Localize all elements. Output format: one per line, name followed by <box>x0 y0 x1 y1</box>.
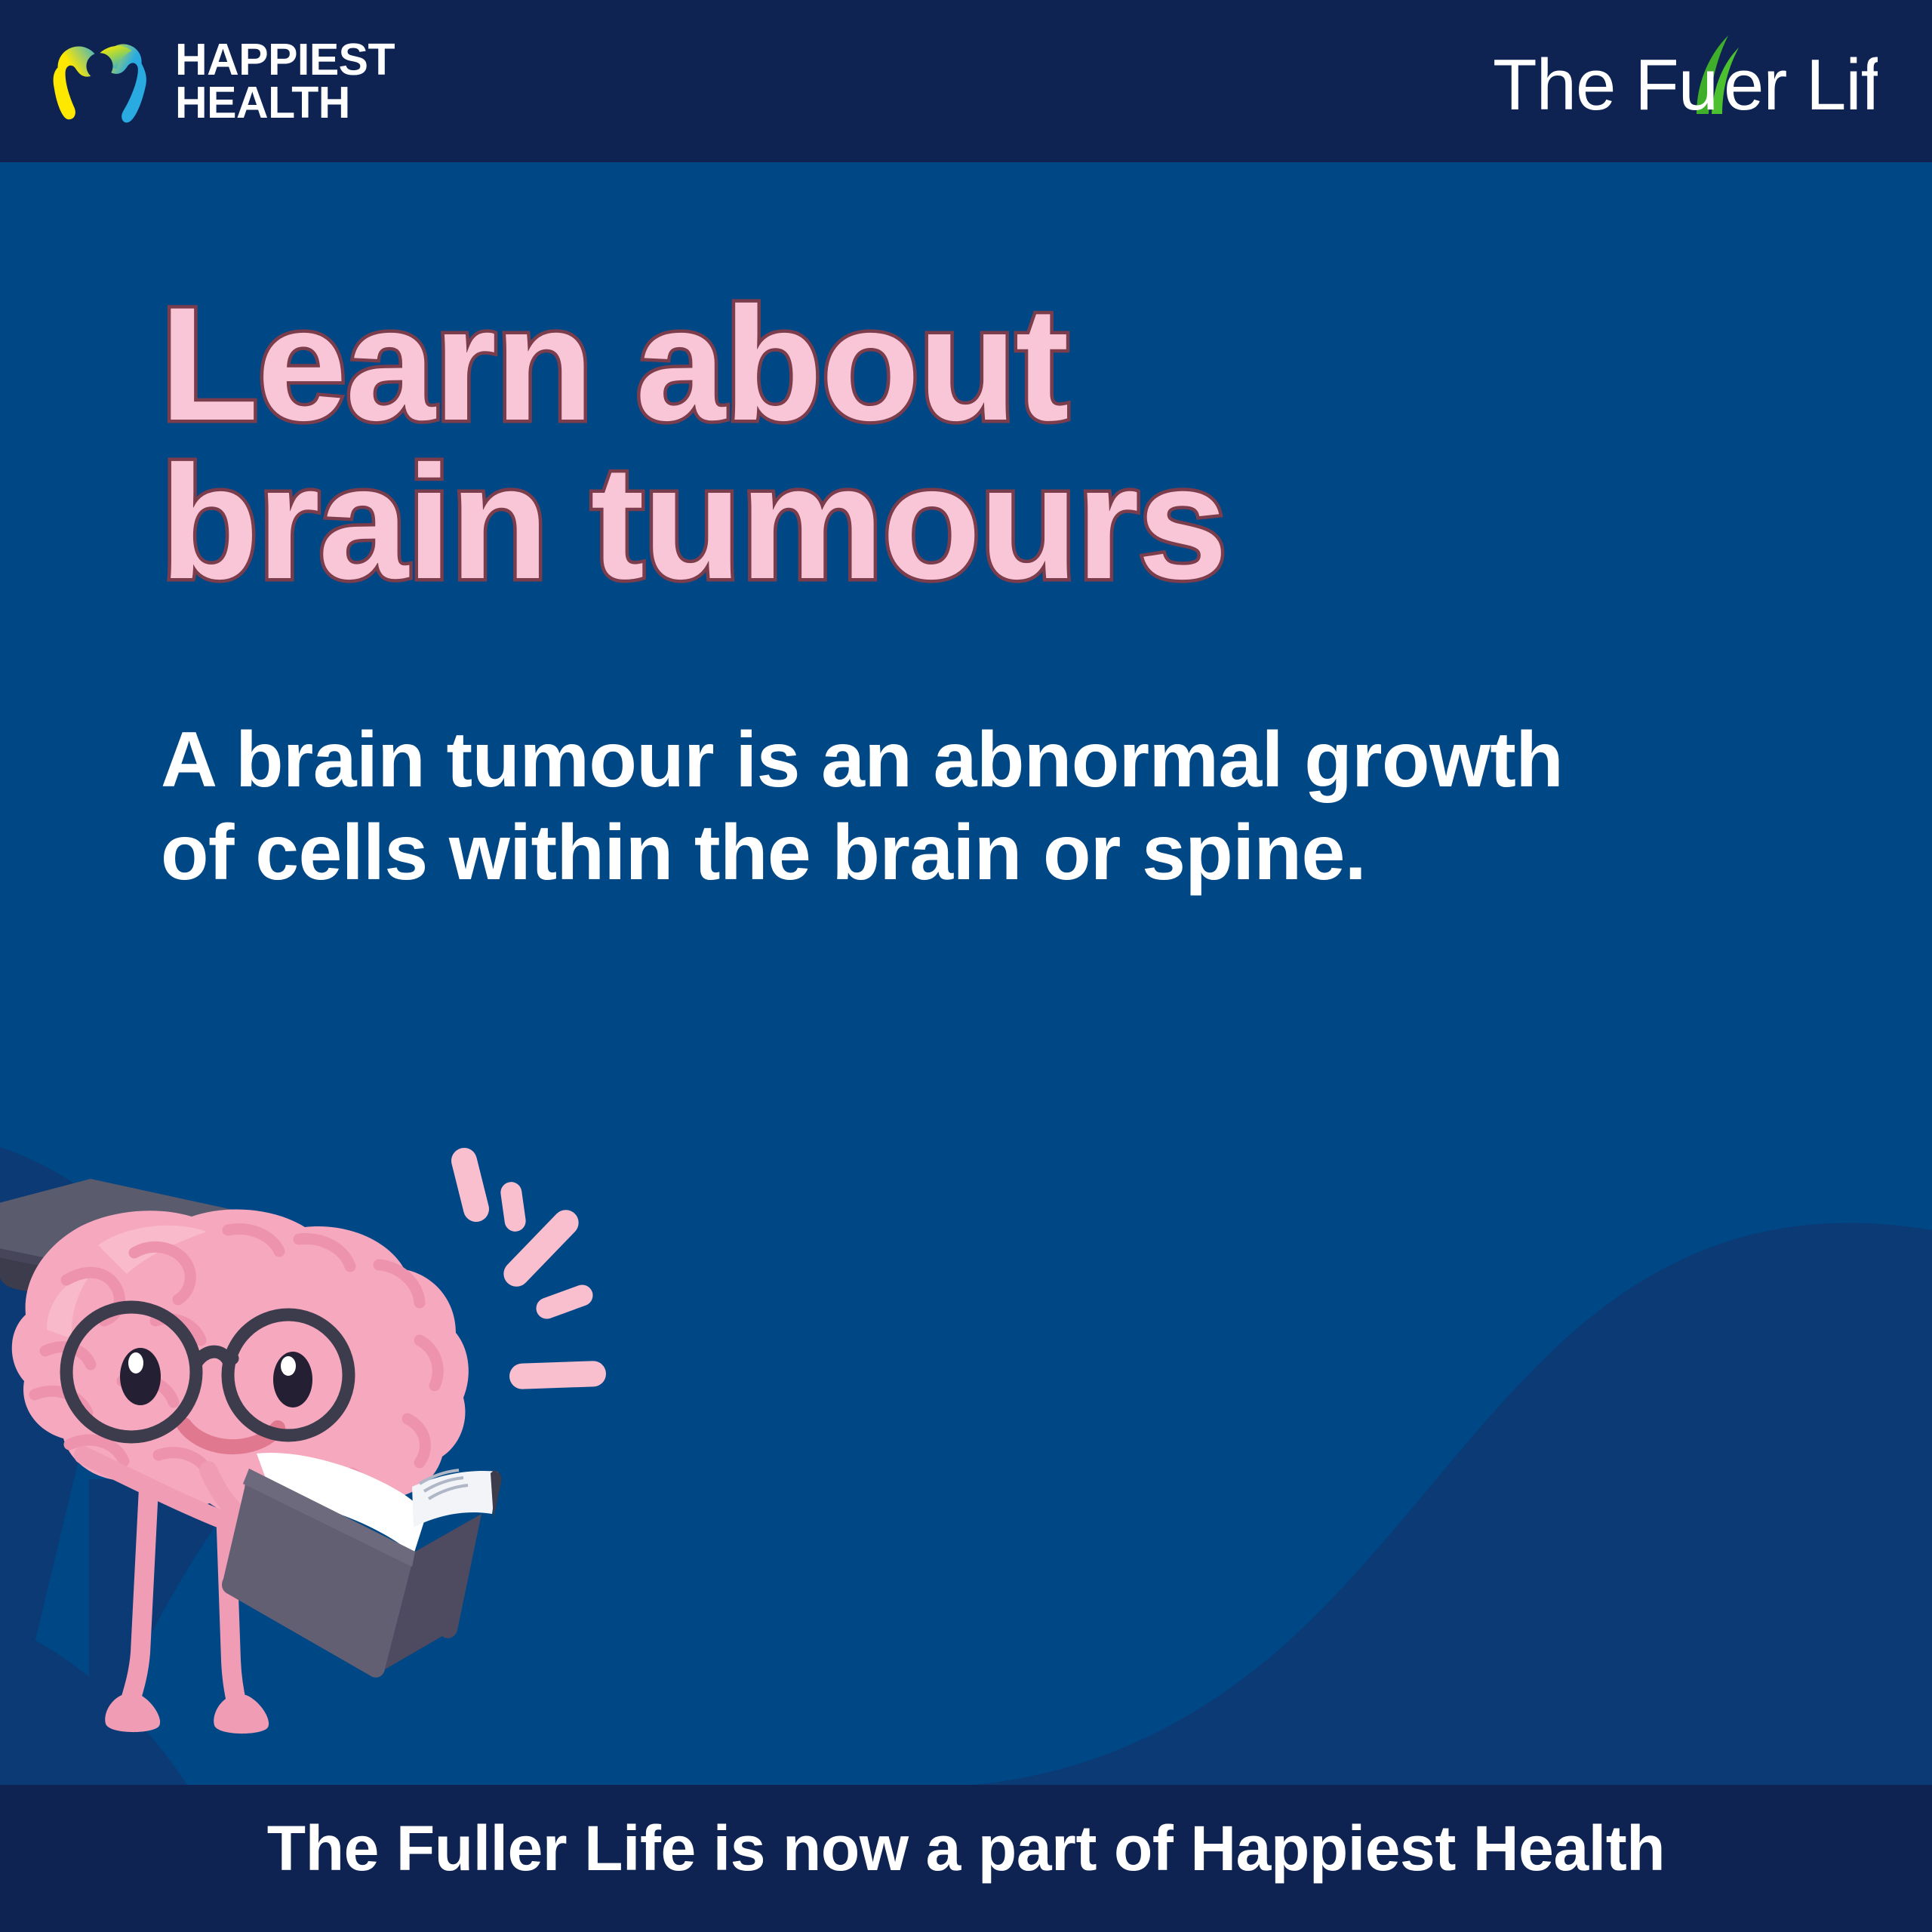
headline-line-1: Learn about <box>160 285 1715 444</box>
body-line-1: A brain tumour is an abnormal growth <box>161 714 1806 807</box>
brand-line-1: HAPPIEST <box>175 38 395 82</box>
svg-text:The Fu: The Fu <box>1493 45 1718 125</box>
the-fuller-life-logo[interactable]: The Fu er Life The Fu er Life <box>1470 25 1878 138</box>
header-bar: HAPPIEST HEALTH The Fu er Life The Fu er… <box>0 0 1932 162</box>
svg-text:er Life: er Life <box>1724 45 1878 125</box>
sparkle-marks-icon <box>448 1145 606 1389</box>
page-title: Learn about brain tumours <box>160 285 1715 601</box>
body-line-2: of cells within the brain or spine. <box>161 807 1806 900</box>
brand-line-2: HEALTH <box>175 82 395 125</box>
eye-left-highlight <box>128 1352 143 1374</box>
the-fuller-life-mark: The Fu er Life <box>1470 25 1878 138</box>
happiest-health-logo[interactable]: HAPPIEST HEALTH <box>44 32 395 131</box>
eye-right-highlight <box>281 1356 296 1376</box>
graduate-brain-reading-book-illustration <box>0 1132 641 1826</box>
headline-line-2: brain tumours <box>160 444 1715 602</box>
footer-bar: The Fuller Life is now a part of Happies… <box>0 1785 1932 1932</box>
open-book-icon <box>222 1453 502 1678</box>
poster-canvas: HAPPIEST HEALTH The Fu er Life The Fu er… <box>0 0 1932 1932</box>
wave-right <box>943 1223 1932 1787</box>
happiest-health-wordmark: HAPPIEST HEALTH <box>175 38 395 124</box>
body-copy: A brain tumour is an abnormal growth of … <box>161 714 1806 899</box>
footer-tagline: The Fuller Life is now a part of Happies… <box>267 1812 1665 1885</box>
brain-body <box>12 1210 469 1518</box>
heart-person-mark <box>44 32 155 131</box>
brain-foot-right <box>214 1695 269 1734</box>
brain-character-icon <box>0 1132 641 1826</box>
brain-foot-left <box>105 1694 160 1732</box>
